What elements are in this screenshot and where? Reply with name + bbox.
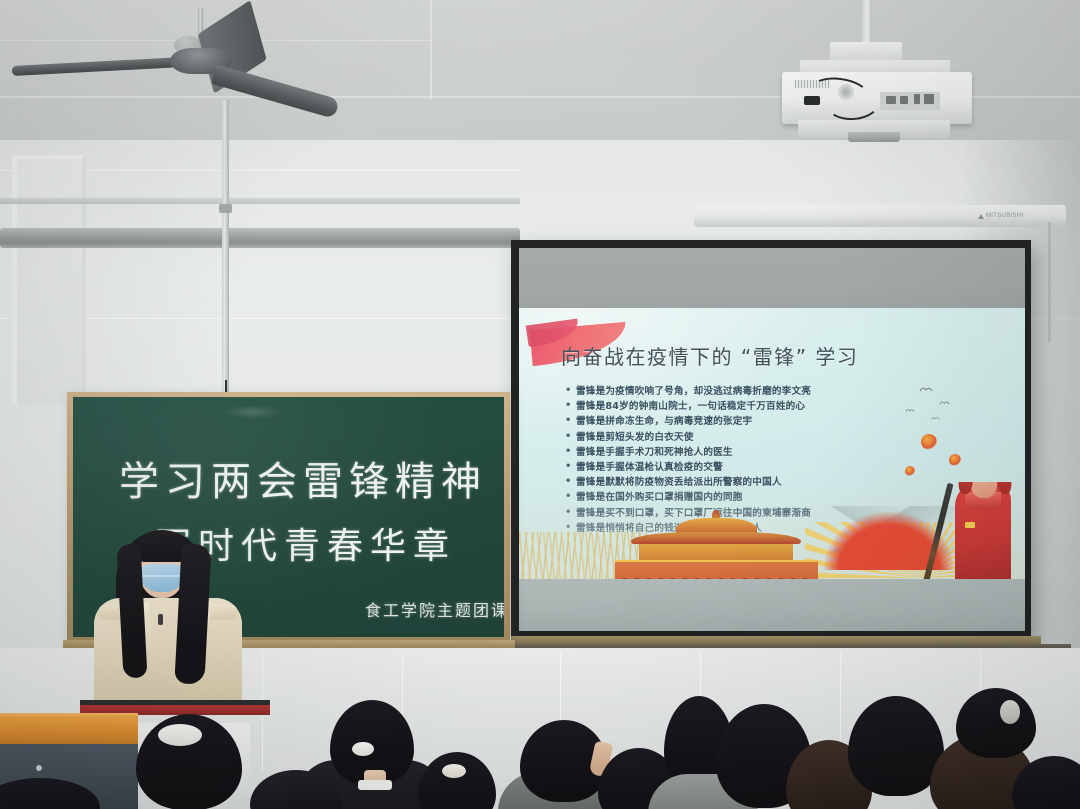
screen-blank-top-band bbox=[519, 248, 1025, 308]
flying-bird-icon bbox=[905, 408, 915, 415]
brand-triangle-icon bbox=[978, 214, 984, 219]
lantern-icon bbox=[949, 454, 961, 466]
flying-bird-icon bbox=[931, 416, 940, 423]
gate-midsection bbox=[639, 542, 793, 562]
presenter bbox=[84, 528, 254, 708]
face-mask-icon bbox=[140, 564, 184, 592]
list-item: 雷锋是剪短头发的白衣天使 bbox=[563, 430, 1005, 445]
hair-scrunchie bbox=[442, 764, 466, 778]
blackboard-signature: 食工学院主题团课 bbox=[365, 597, 504, 621]
ceiling-seam bbox=[430, 0, 432, 100]
projector-port bbox=[924, 94, 934, 104]
desk-surface[interactable] bbox=[0, 716, 138, 746]
slide-illustration bbox=[519, 482, 1025, 594]
slide-content: 向奋战在疫情下的 “雷锋” 学习 雷锋是为疫情吹响了号角，却没逃过病毒折磨的李文… bbox=[519, 308, 1025, 594]
lei-feng-soldier-graphic bbox=[949, 482, 1023, 594]
list-item: 雷锋是为疫情吹响了号角，却没逃过病毒折磨的李文亮 bbox=[563, 384, 1005, 399]
projector-port bbox=[900, 96, 908, 104]
list-item: 雷锋是手握体温枪认真检疫的交警 bbox=[563, 460, 1005, 475]
pole-clamp bbox=[219, 204, 232, 213]
screen-blank-bottom-band bbox=[519, 579, 1025, 631]
lantern-icon bbox=[905, 466, 915, 476]
screen-surface: 向奋战在疫情下的 “雷锋” 学习 雷锋是为疫情吹响了号角，却没逃过病毒折磨的李文… bbox=[519, 248, 1025, 631]
conduit-pipe bbox=[0, 228, 520, 248]
slide-title: 向奋战在疫情下的 “雷锋” 学习 bbox=[561, 346, 858, 368]
blackboard-line-1: 学习两会雷锋精神 bbox=[119, 449, 487, 507]
lantern-icon bbox=[921, 434, 937, 450]
chalk-smudge bbox=[223, 405, 283, 419]
flying-bird-icon bbox=[939, 400, 950, 407]
projector-brand-label: MITSUBISHI bbox=[978, 213, 1023, 219]
face-mask-fold bbox=[142, 575, 182, 577]
projector-plug bbox=[804, 96, 820, 105]
projector-lens-icon bbox=[848, 132, 900, 142]
screen-cable bbox=[1048, 222, 1051, 342]
hair-scrunchie bbox=[158, 724, 202, 746]
brand-text: MITSUBISHI bbox=[986, 213, 1023, 219]
hair-scrunchie bbox=[352, 742, 374, 756]
soldier-badge bbox=[965, 522, 975, 528]
clip-microphone-icon bbox=[158, 614, 163, 625]
projector-port bbox=[886, 96, 896, 104]
mic-support-pole bbox=[222, 100, 229, 400]
door-frame[interactable] bbox=[12, 155, 86, 405]
list-item: 雷锋是手握手术刀和死神抢人的医生 bbox=[563, 445, 1005, 460]
projection-screen[interactable]: 向奋战在疫情下的 “雷锋” 学习 雷锋是为疫情吹响了号角，却没逃过病毒折磨的李文… bbox=[511, 240, 1031, 638]
projector-mount-plate bbox=[830, 42, 902, 60]
audience-collar bbox=[358, 780, 392, 790]
hair-scrunchie bbox=[1000, 700, 1020, 724]
desk-knob[interactable] bbox=[36, 765, 42, 771]
projector-port bbox=[914, 94, 920, 104]
classroom-photo: MITSUBISHI 向奋战在疫情下的 “雷锋” 学习 雷锋是为疫情吹响了号角，… bbox=[0, 0, 1080, 809]
wall-trim bbox=[0, 198, 520, 204]
flying-bird-icon bbox=[919, 386, 933, 393]
